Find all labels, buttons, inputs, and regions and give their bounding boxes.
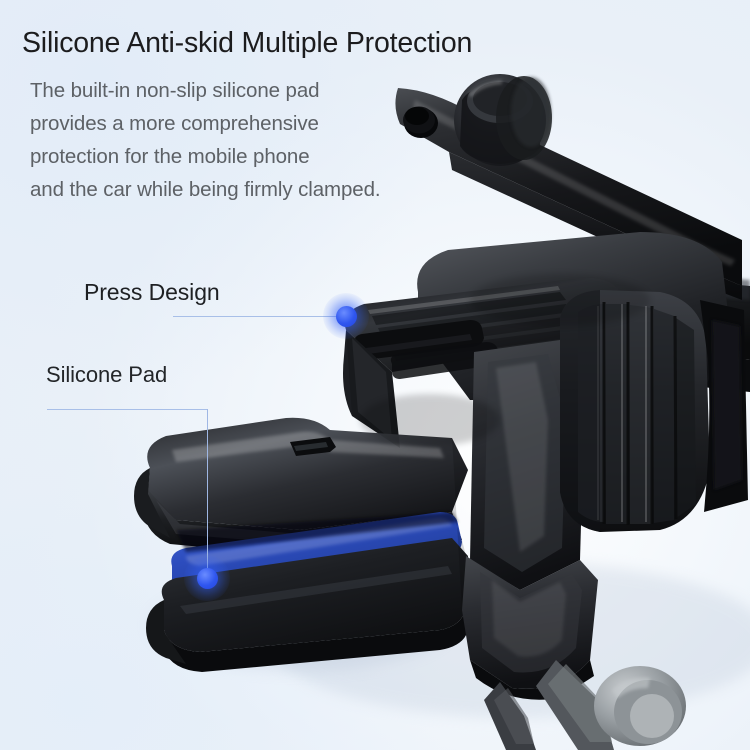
callout-marker-silicone-pad bbox=[184, 555, 230, 601]
description-paragraph: The built-in non-slip silicone pad provi… bbox=[30, 74, 460, 206]
callout-marker-press-design bbox=[323, 293, 369, 339]
callout-label-silicone-pad: Silicone Pad bbox=[46, 362, 167, 388]
marker-dot-icon bbox=[336, 306, 357, 327]
product-feature-banner: Silicone Anti-skid Multiple Protection T… bbox=[0, 0, 750, 750]
description-line-3: protection for the mobile phone bbox=[30, 140, 460, 173]
description-line-1: The built-in non-slip silicone pad bbox=[30, 74, 460, 107]
marker-dot-icon bbox=[197, 568, 218, 589]
description-line-2: provides a more comprehensive bbox=[30, 107, 460, 140]
description-line-4: and the car while being firmly clamped. bbox=[30, 173, 460, 206]
callout-leader-press-design bbox=[173, 316, 345, 317]
callout-leader-silicone-pad-horizontal bbox=[47, 409, 208, 410]
page-title: Silicone Anti-skid Multiple Protection bbox=[22, 27, 472, 60]
callout-label-press-design: Press Design bbox=[84, 279, 220, 306]
